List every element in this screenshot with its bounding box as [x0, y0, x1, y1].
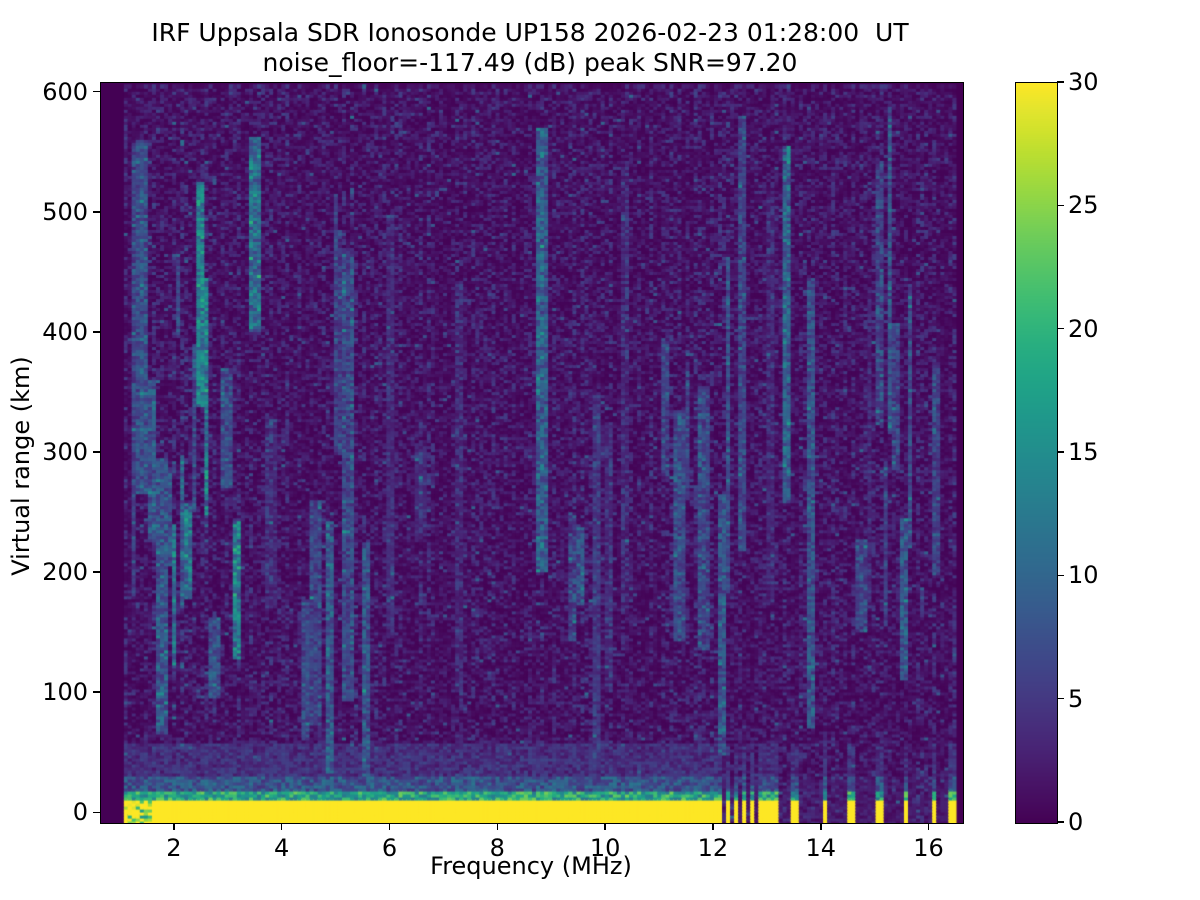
snr-colorbar — [1015, 82, 1058, 824]
colorbar-tick-label: 30 — [1068, 68, 1099, 96]
colorbar-tick-mark — [1057, 575, 1064, 577]
ionogram-heatmap — [101, 83, 963, 823]
y-tick-mark — [93, 451, 100, 453]
page-title: IRF Uppsala SDR Ionosonde UP158 2026-02-… — [0, 18, 1060, 77]
colorbar-tick-mark — [1057, 328, 1064, 330]
colorbar-tick-label: 10 — [1068, 561, 1099, 589]
ionogram-figure: IRF Uppsala SDR Ionosonde UP158 2026-02-… — [0, 0, 1200, 900]
x-tick-mark — [281, 823, 283, 830]
ionogram-axes — [100, 82, 964, 824]
x-axis-label: Frequency (MHz) — [100, 852, 962, 880]
colorbar-tick-label: 25 — [1068, 191, 1099, 219]
title-line-1: IRF Uppsala SDR Ionosonde UP158 2026-02-… — [0, 18, 1060, 48]
colorbar-tick-mark — [1057, 81, 1064, 83]
title-line-2: noise_floor=-117.49 (dB) peak SNR=97.20 — [0, 48, 1060, 78]
colorbar-tick-mark — [1057, 821, 1064, 823]
y-tick-mark — [93, 211, 100, 213]
y-tick-mark — [93, 91, 100, 93]
y-tick-mark — [93, 331, 100, 333]
colorbar-tick-mark — [1057, 698, 1064, 700]
x-tick-mark — [712, 823, 714, 830]
x-tick-mark — [173, 823, 175, 830]
colorbar-tick-label: 0 — [1068, 808, 1083, 836]
x-tick-mark — [497, 823, 499, 830]
x-tick-mark — [389, 823, 391, 830]
y-tick-mark — [93, 812, 100, 814]
y-tick-mark — [93, 691, 100, 693]
colorbar-tick-label: 20 — [1068, 315, 1099, 343]
colorbar-tick-label: 15 — [1068, 438, 1099, 466]
y-tick-mark — [93, 571, 100, 573]
colorbar-tick-label: 5 — [1068, 685, 1083, 713]
x-tick-mark — [604, 823, 606, 830]
colorbar-tick-mark — [1057, 205, 1064, 207]
x-tick-mark — [928, 823, 930, 830]
x-tick-mark — [820, 823, 822, 830]
colorbar-gradient — [1016, 83, 1057, 823]
colorbar-tick-mark — [1057, 451, 1064, 453]
y-axis-label: Virtual range (km) — [7, 96, 35, 836]
